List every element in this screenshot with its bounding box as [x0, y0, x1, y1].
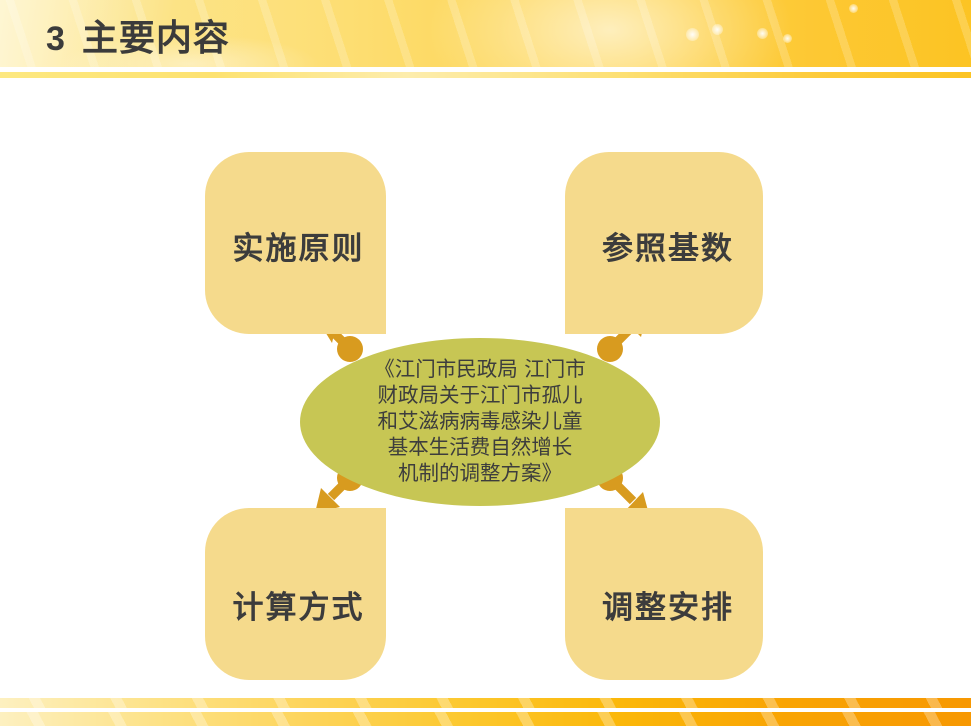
header-sparkle-dot: [712, 24, 723, 35]
header-sparkle-dot: [783, 34, 792, 43]
diagram-node-adjustment-arrangement[interactable]: 调整安排: [565, 508, 763, 680]
center-ellipse-line: 《江门市民政局 江门市: [330, 356, 630, 382]
node-label: 调整安排: [602, 593, 734, 624]
header-sparkle-dot: [757, 28, 768, 39]
center-ellipse-text: 《江门市民政局 江门市财政局关于江门市孤儿和艾滋病病毒感染儿童基本生活费自然增长…: [330, 356, 630, 486]
page-title-number: 3: [46, 20, 66, 58]
header-sparkle-dot: [686, 28, 699, 41]
node-label: 实施原则: [233, 234, 365, 265]
page-title-text: 主要内容: [82, 18, 230, 59]
footer-diagonal-streaks: [0, 698, 971, 708]
footer-diagonal-streaks: [0, 712, 971, 726]
diagram-node-calculation-method[interactable]: 计算方式: [205, 508, 386, 680]
header-sparkle-dot: [849, 4, 858, 13]
node-label: 计算方式: [233, 593, 365, 624]
diagram-node-implementation-principles[interactable]: 实施原则: [205, 152, 386, 334]
center-ellipse-line: 机制的调整方案》: [330, 460, 630, 486]
footer-band-upper: [0, 698, 971, 708]
slide-footer: [0, 690, 971, 726]
page-title: 3主要内容: [46, 9, 230, 61]
node-label: 参照基数: [602, 234, 734, 265]
content-diagram: 实施原则 参照基数 计算方式 调整安排 《江门市民政局 江门市财政局关于江门市孤…: [0, 78, 971, 690]
header-glow-highlight: [430, 0, 790, 67]
footer-band-lower: [0, 712, 971, 726]
center-ellipse-line: 财政局关于江门市孤儿: [330, 382, 630, 408]
diagram-node-reference-base[interactable]: 参照基数: [565, 152, 763, 334]
center-ellipse-line: 基本生活费自然增长: [330, 434, 630, 460]
center-ellipse-line: 和艾滋病病毒感染儿童: [330, 408, 630, 434]
diagram-center-ellipse[interactable]: 《江门市民政局 江门市财政局关于江门市孤儿和艾滋病病毒感染儿童基本生活费自然增长…: [300, 338, 660, 506]
